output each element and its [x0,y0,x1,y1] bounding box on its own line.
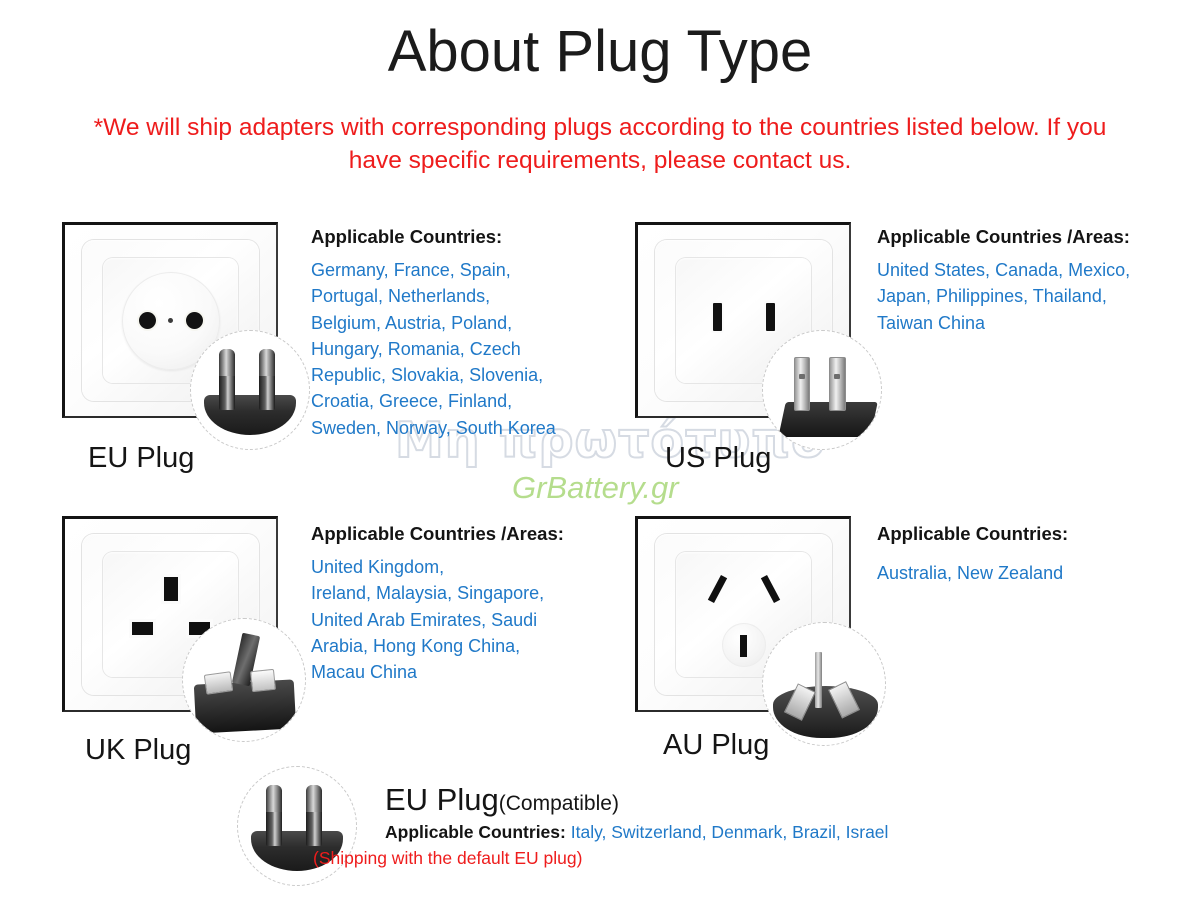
us-countries-list: United States, Canada, Mexico, Japan, Ph… [877,257,1177,336]
country-line: Macau China [311,659,611,685]
country-line: Belgium, Austria, Poland, [311,310,611,336]
country-line: United States, Canada, Mexico, [877,257,1177,283]
eu-countries-heading: Applicable Countries: [311,226,502,248]
country-line: Arabia, Hong Kong China, [311,633,611,659]
blade-notch [834,374,840,379]
watermark-brand: GrBattery.gr [512,470,679,506]
us-slot-right [766,303,775,331]
compat-countries-list: Italy, Switzerland, Denmark, Brazil, Isr… [571,822,889,842]
uk-plug-label: UK Plug [85,734,191,767]
plug-body [204,395,296,435]
country-line: Republic, Slovakia, Slovenia, [311,362,611,388]
uk-countries-heading: Applicable Countries /Areas: [311,523,564,545]
us-countries-heading: Applicable Countries /Areas: [877,226,1130,248]
uk-earth-slot [164,577,178,601]
eu-compatible-shipping-note: (Shipping with the default EU plug) [313,848,582,869]
plug-blade-left [794,357,811,411]
uk-plug-icon [182,618,306,742]
au-slot-right [760,575,779,603]
country-line: Portugal, Netherlands, [311,283,611,309]
au-plug-label: AU Plug [663,729,769,762]
eu-compatible-title: EU Plug(Compatible) [385,782,619,818]
eu-plug-icon [190,330,310,450]
au-plug-icon [762,622,886,746]
page-title: About Plug Type [0,22,1200,83]
eu-pin-hole-right [186,312,203,329]
country-line: United Arab Emirates, Saudi [311,607,611,633]
plug-pin-right [306,785,321,846]
eu-compatible-countries-row: Applicable Countries: Italy, Switzerland… [385,822,888,843]
au-slot-left [707,575,726,603]
eu-countries-list: Germany, France, Spain, Portugal, Nether… [311,257,611,441]
country-line: Germany, France, Spain, [311,257,611,283]
country-line: Sweden, Norway, South Korea [311,415,611,441]
eu-center-dot [168,318,173,323]
compat-title-sub: (Compatible) [499,792,619,815]
eu-plug-label: EU Plug [88,442,194,475]
uk-slot-left [132,622,153,635]
us-plug-icon [762,330,882,450]
compat-countries-heading: Applicable Countries: [385,822,566,842]
plug-pin-right [250,669,276,692]
country-line: Japan, Philippines, Thailand, [877,283,1177,309]
us-slot-left [713,303,722,331]
au-earth-slot [740,635,747,657]
country-line: Croatia, Greece, Finland, [311,388,611,414]
compat-title-main: EU Plug [385,782,499,817]
eu-pin-hole-left [139,312,156,329]
plug-type-infographic: About Plug Type *We will ship adapters w… [0,0,1200,900]
country-line: Australia, New Zealand [877,560,1177,586]
shipping-note: *We will ship adapters with correspondin… [70,112,1130,177]
plug-earth-pin [815,652,821,708]
country-line: United Kingdom, [311,554,611,580]
country-line: Taiwan China [877,310,1177,336]
au-countries-heading: Applicable Countries: [877,523,1068,545]
plug-pin-right [259,349,274,410]
uk-countries-list: United Kingdom, Ireland, Malaysia, Singa… [311,554,611,685]
us-plug-label: US Plug [665,442,771,475]
blade-notch [799,374,805,379]
plug-pin-left [219,349,234,410]
plug-pin-left [204,671,233,694]
plug-pin-left [266,785,281,846]
country-line: Hungary, Romania, Czech [311,336,611,362]
au-countries-list: Australia, New Zealand [877,560,1177,586]
country-line: Ireland, Malaysia, Singapore, [311,580,611,606]
plug-blade-right [829,357,846,411]
